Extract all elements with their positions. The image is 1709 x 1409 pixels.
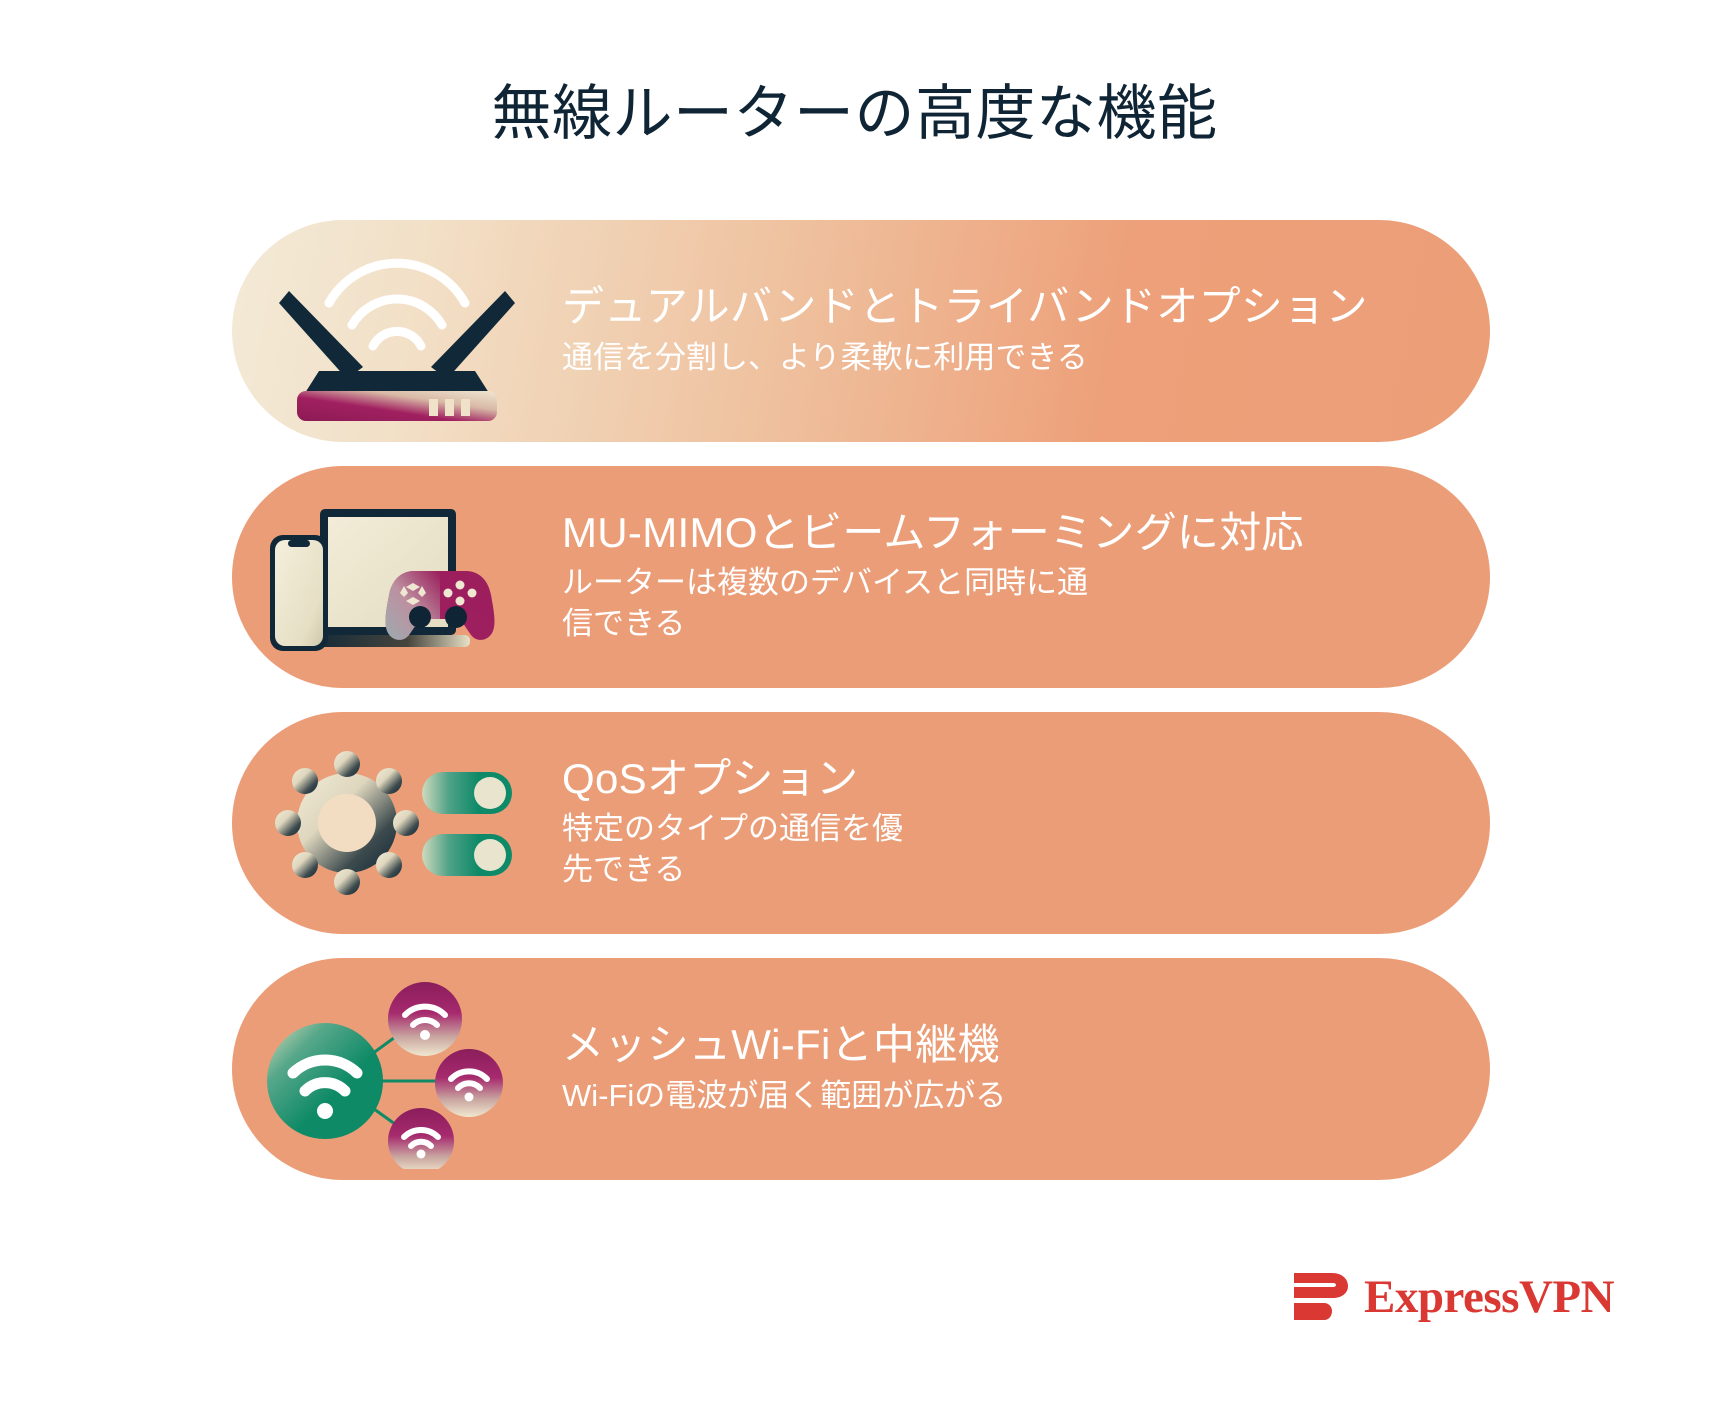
page-title: 無線ルーターの高度な機能 [0, 78, 1709, 150]
expressvpn-logo[interactable]: ExpressVPN [1288, 1268, 1614, 1326]
feature-card-title: QoSオプション [562, 755, 1450, 804]
gear-and-toggles-icon [232, 712, 562, 934]
feature-card-description: 通信を分割し、より柔軟に利用できる [562, 338, 1450, 379]
feature-card-title: MU-MIMOとビームフォーミングに対応 [562, 509, 1450, 558]
wireless-router-icon [232, 220, 562, 442]
devices-phone-laptop-gamepad-icon [232, 466, 562, 688]
feature-card-list: デュアルバンドとトライバンドオプション 通信を分割し、より柔軟に利用できる [232, 220, 1490, 1180]
expressvpn-mark-icon [1288, 1268, 1350, 1326]
feature-card-title: メッシュWi-Fiと中継機 [562, 1021, 1450, 1070]
feature-card-qos[interactable]: QoSオプション 特定のタイプの通信を優 先できる [232, 712, 1490, 934]
feature-card-mu-mimo[interactable]: MU-MIMOとビームフォーミングに対応 ルーターは複数のデバイスと同時に通 信… [232, 466, 1490, 688]
feature-card-description: 特定のタイプの通信を優 先できる [562, 809, 1450, 891]
feature-card-text: メッシュWi-Fiと中継機 Wi-Fiの電波が届く範囲が広がる [562, 1021, 1490, 1117]
expressvpn-wordmark: ExpressVPN [1364, 1274, 1614, 1321]
feature-card-text: デュアルバンドとトライバンドオプション 通信を分割し、より柔軟に利用できる [562, 283, 1490, 379]
feature-card-description: ルーターは複数のデバイスと同時に通 信できる [562, 563, 1450, 645]
feature-card-text: QoSオプション 特定のタイプの通信を優 先できる [562, 755, 1490, 892]
feature-card-description: Wi-Fiの電波が届く範囲が広がる [562, 1076, 1450, 1117]
feature-card-title: デュアルバンドとトライバンドオプション [562, 283, 1450, 332]
mesh-wifi-nodes-icon [232, 958, 562, 1180]
feature-card-dual-band[interactable]: デュアルバンドとトライバンドオプション 通信を分割し、より柔軟に利用できる [232, 220, 1490, 442]
feature-card-text: MU-MIMOとビームフォーミングに対応 ルーターは複数のデバイスと同時に通 信… [562, 509, 1490, 646]
feature-card-mesh-wifi[interactable]: メッシュWi-Fiと中継機 Wi-Fiの電波が届く範囲が広がる [232, 958, 1490, 1180]
